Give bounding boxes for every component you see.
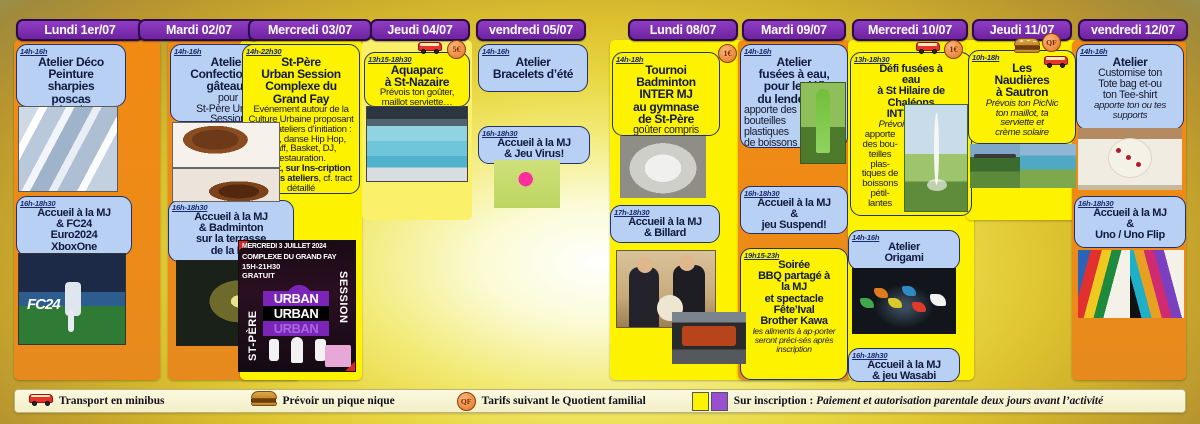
day-header-lundi-1er-07[interactable]: Lundi 1er/07 <box>16 19 144 41</box>
activity-subtitle-materials: apporte ton ou tes supports <box>1080 101 1180 121</box>
activity-card-jeu-virus[interactable]: 16h-18h30 Accueil à la MJ & Jeu Virus! <box>478 126 590 164</box>
activity-subtitle-materials: apporte des bou- teilles plas- tiques de… <box>854 130 906 209</box>
activity-card-billard[interactable]: 17h-18h30 Accueil à la MJ & Billard <box>610 205 720 243</box>
day-header-vendredi-05-07[interactable]: vendredi 05/07 <box>476 19 586 41</box>
day-header-label: Jeudi 04/07 <box>387 23 452 37</box>
price-badge-label: 5€ <box>447 40 466 59</box>
price-badge-day8: 1€ <box>944 40 963 59</box>
activity-card-soiree-bbq[interactable]: 19h15-23h Soirée BBQ partagé à la MJ et … <box>740 248 848 380</box>
legend-label: Prévoir un pique nique <box>283 395 395 407</box>
price-badge-day6: 1€ <box>718 44 737 63</box>
qf-badge-label: QF <box>1042 33 1061 52</box>
poster-line3: 15H-21H30 <box>242 262 280 271</box>
day-header-label: Mardi 09/07 <box>761 23 827 37</box>
activity-subtitle: goûter compris <box>616 125 716 136</box>
day-header-mercredi-10-07[interactable]: Mercredi 10/07 <box>852 19 968 41</box>
photo-jeu-virus <box>494 160 560 208</box>
picnic-burger-icon <box>251 391 277 411</box>
photo-vitres <box>18 106 118 192</box>
photo-bbq-grill <box>672 312 746 364</box>
poster-line4: GRATUIT <box>242 271 275 280</box>
legend-item-picnic: Prévoir un pique nique <box>251 391 395 411</box>
activity-title: St-Père Urban Session Complexe du Grand … <box>246 56 356 105</box>
photo-aquaparc-pool <box>366 106 468 182</box>
poster-right-label: SESSION <box>337 271 349 327</box>
day-header-label: Mardi 02/07 <box>166 23 232 37</box>
activity-subtitle: Prévois ton goûter, maillot serviette… <box>368 88 466 107</box>
day-header-label: Lundi 1er/07 <box>44 23 115 37</box>
day-header-lundi-08-07[interactable]: Lundi 08/07 <box>628 19 738 41</box>
poster-left-label: ST-PÈRE <box>247 305 259 361</box>
price-badge-day4: 5€ <box>447 40 466 59</box>
photo-rocket-bottle <box>800 82 846 164</box>
minibus-icon <box>29 392 53 411</box>
poster-word-block: URBAN URBAN URBAN <box>263 291 329 333</box>
photo-uno-cards-1 <box>1078 250 1130 318</box>
legend-item-qf: QF Tarifs suivant le Quotient familial <box>457 392 646 411</box>
qf-badge-day9: QF <box>1042 33 1061 52</box>
photo-fc24-game: FC24 <box>18 253 126 345</box>
day-header-mercredi-03-07[interactable]: Mercredi 03/07 <box>248 19 372 41</box>
activity-card-jeu-suspend[interactable]: 16h-18h30 Accueil à la MJ & jeu Suspend! <box>740 186 848 234</box>
weekly-activity-program-poster: Lundi 1er/07 Mardi 02/07 Mercredi 03/07 … <box>0 0 1200 424</box>
activity-card-deco-peinture[interactable]: 14h-16h Atelier Déco Peinture sharpies p… <box>16 44 126 107</box>
activity-title: Tournoi Badminton INTER MJ au gymnase de… <box>616 64 716 125</box>
day-header-vendredi-12-07[interactable]: vendredi 12/07 <box>1078 19 1188 41</box>
price-badge-label: 1€ <box>944 40 963 59</box>
poster-line1: MERCREDI 3 JUILLET 2024 <box>242 243 326 250</box>
day-header-label: vendredi 05/07 <box>489 23 573 37</box>
activity-subtitle: les aliments à ap-porter seront préci-sé… <box>744 327 844 354</box>
photo-origami-cranes <box>852 268 956 334</box>
legend-label-italic: Paiement et autorisation parentale deux … <box>816 395 1103 407</box>
day-header-label: Mercredi 03/07 <box>268 23 352 37</box>
activity-subtitle: Customise ton Tote bag et-ou ton Tee-shi… <box>1080 68 1180 101</box>
day-header-label: Lundi 08/07 <box>650 23 717 37</box>
legend-label: Tarifs suivant le Quotient familial <box>482 395 646 407</box>
activity-card-customise-tote[interactable]: 14h-16h Atelier Customise ton Tote bag e… <box>1076 44 1184 130</box>
photo-urban-session-poster: MERCREDI 3 JUILLET 2024 COMPLEXE DU GRAN… <box>238 240 356 372</box>
activity-card-tournoi-badminton[interactable]: 14h-18h Tournoi Badminton INTER MJ au gy… <box>612 52 720 136</box>
activity-card-uno[interactable]: 16h-18h30 Accueil à la MJ & Uno / Uno Fl… <box>1074 196 1186 248</box>
legend-item-inscription: Sur inscription : Paiement et autorisati… <box>692 392 1103 411</box>
day-header-mardi-02-07[interactable]: Mardi 02/07 <box>138 19 260 41</box>
photo-gateau-2 <box>172 168 280 202</box>
activity-title: Accueil à la MJ & jeu Wasabi <box>852 360 956 382</box>
activity-title: Accueil à la MJ & FC24 Euro2024 XboxOne <box>20 208 128 253</box>
activity-title: Atelier Déco Peinture sharpies poscas <box>20 56 122 105</box>
minibus-icon-day8 <box>916 40 940 54</box>
color-swatch-yellow-icon <box>692 392 709 411</box>
activity-card-bracelets-ete[interactable]: 14h-16h Atelier Bracelets d’été <box>478 44 588 92</box>
activity-title: Soirée BBQ partagé à la MJ et spectacle … <box>744 260 844 327</box>
legend-label: Transport en minibus <box>59 395 165 407</box>
fc24-logo: FC24 <box>27 296 60 313</box>
activity-title: Accueil à la MJ & jeu Suspend! <box>744 198 844 232</box>
activity-title: Aquaparc à St-Nazaire <box>368 64 466 88</box>
poster-line2: COMPLEXE DU GRAND FAY <box>242 252 336 261</box>
legend-bar: Transport en minibus Prévoir un pique ni… <box>14 389 1186 413</box>
activity-card-jeu-wasabi[interactable]: 16h-18h30 Accueil à la MJ & jeu Wasabi <box>848 348 960 382</box>
color-swatch-purple-icon <box>711 392 728 411</box>
activity-title: Accueil à la MJ & Billard <box>614 217 716 239</box>
photo-rocket-launch <box>904 104 968 212</box>
activity-subtitle: Prévois ton PicNic ton maillot, ta servi… <box>972 99 1072 139</box>
day-header-label: vendredi 12/07 <box>1091 23 1175 37</box>
legend-label-prefix: Sur inscription : <box>734 395 816 407</box>
photo-badminton-rackets <box>620 136 706 198</box>
legend-item-minibus: Transport en minibus <box>29 392 165 411</box>
activity-card-origami[interactable]: 14h-16h Atelier Origami <box>848 230 960 270</box>
day-header-jeudi-04-07[interactable]: Jeudi 04/07 <box>370 19 470 41</box>
activity-title: Atelier Origami <box>852 242 956 264</box>
day-header-label: Mercredi 10/07 <box>868 23 952 37</box>
activity-title: Atelier Bracelets d’été <box>482 56 584 80</box>
activity-title: Accueil à la MJ & Jeu Virus! <box>482 138 586 160</box>
minibus-icon-day4 <box>418 40 442 54</box>
photo-uno-flip-cards <box>1130 250 1184 318</box>
legend-label: Sur inscription : Paiement et autorisati… <box>734 395 1103 407</box>
photo-park-water <box>1020 144 1076 188</box>
minibus-icon-day9 <box>1044 54 1068 68</box>
photo-park-slide <box>970 144 1020 188</box>
picnic-burger-icon-day9 <box>1014 38 1040 53</box>
photo-gateau-1 <box>172 122 280 168</box>
price-badge-label: 1€ <box>718 44 737 63</box>
photo-tote-bag <box>1078 128 1182 190</box>
day-header-mardi-09-07[interactable]: Mardi 09/07 <box>742 19 846 41</box>
qf-coin-icon: QF <box>457 392 476 411</box>
activity-card-aquaparc[interactable]: 13h15-18h30 Aquaparc à St-Nazaire Prévoi… <box>364 52 470 107</box>
activity-title: Accueil à la MJ & Uno / Uno Flip <box>1078 208 1182 242</box>
activity-card-fc24[interactable]: 16h-18h30 Accueil à la MJ & FC24 Euro202… <box>16 196 132 256</box>
